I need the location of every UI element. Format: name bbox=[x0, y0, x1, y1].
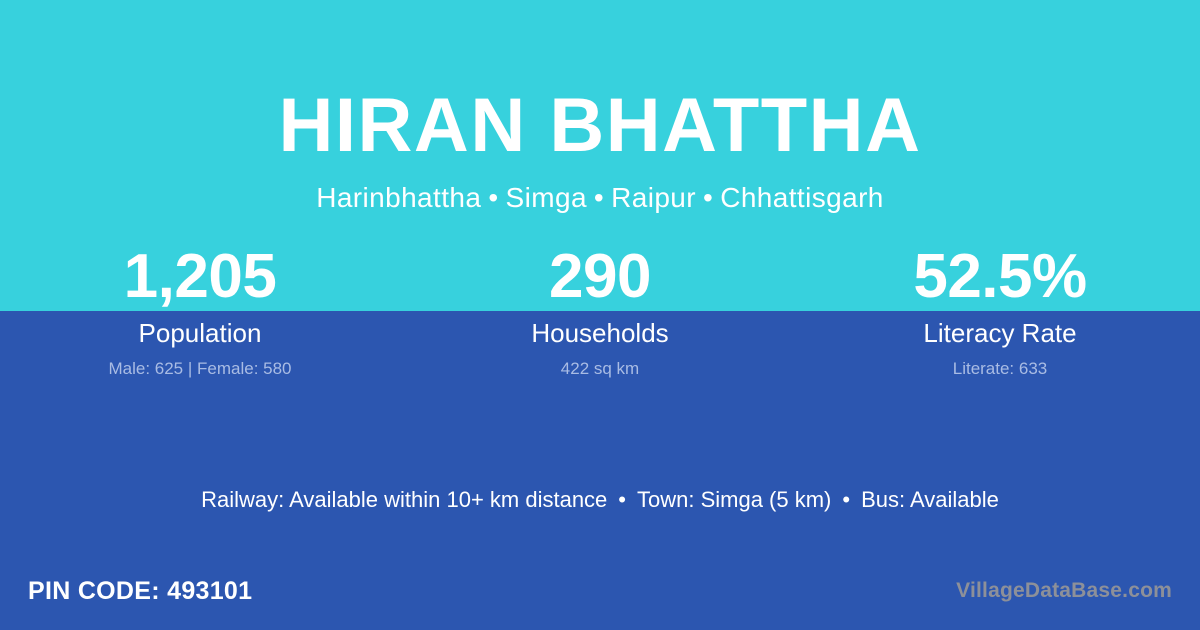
breadcrumb-part-block: Simga bbox=[506, 182, 587, 213]
stat-literacy-rate-value: 52.5% bbox=[800, 243, 1200, 311]
breadcrumb-part-state: Chhattisgarh bbox=[720, 182, 884, 213]
stat-literacy-rate-sub: Literate: 633 bbox=[800, 358, 1200, 380]
stat-population: 1,205 Population Male: 625 | Female: 580 bbox=[0, 243, 400, 380]
transport-bus: Bus: Available bbox=[861, 487, 999, 512]
stat-population-sub: Male: 625 | Female: 580 bbox=[0, 358, 400, 380]
breadcrumb-separator: • bbox=[481, 182, 505, 213]
breadcrumb-part-panchayat: Harinbhattha bbox=[316, 182, 481, 213]
breadcrumb-separator: • bbox=[587, 182, 611, 213]
stat-households-label: Households bbox=[400, 317, 800, 349]
breadcrumb-separator: • bbox=[696, 182, 720, 213]
stat-literacy-rate-label: Literacy Rate bbox=[800, 317, 1200, 349]
pin-code: PIN CODE: 493101 bbox=[28, 575, 252, 607]
transport-railway: Railway: Available within 10+ km distanc… bbox=[201, 487, 607, 512]
transport-separator: • bbox=[831, 487, 861, 512]
transport-separator: • bbox=[607, 487, 637, 512]
village-info-card: HIRAN BHATTHA Harinbhattha•Simga•Raipur•… bbox=[0, 0, 1200, 630]
card-header: HIRAN BHATTHA Harinbhattha•Simga•Raipur•… bbox=[0, 0, 1200, 215]
brand-watermark: VillageDataBase.com bbox=[956, 577, 1172, 605]
stat-population-value: 1,205 bbox=[0, 243, 400, 311]
stat-literacy-rate: 52.5% Literacy Rate Literate: 633 bbox=[800, 243, 1200, 380]
village-location-breadcrumb: Harinbhattha•Simga•Raipur•Chhattisgarh bbox=[0, 181, 1200, 215]
stat-households-sub: 422 sq km bbox=[400, 358, 800, 380]
card-footer: PIN CODE: 493101 VillageDataBase.com bbox=[0, 552, 1200, 630]
transport-info-line: Railway: Available within 10+ km distanc… bbox=[0, 485, 1200, 515]
stats-row: 1,205 Population Male: 625 | Female: 580… bbox=[0, 243, 1200, 380]
stat-households-value: 290 bbox=[400, 243, 800, 311]
stat-population-label: Population bbox=[0, 317, 400, 349]
transport-town: Town: Simga (5 km) bbox=[637, 487, 831, 512]
breadcrumb-part-district: Raipur bbox=[611, 182, 696, 213]
stat-households: 290 Households 422 sq km bbox=[400, 243, 800, 380]
village-title: HIRAN BHATTHA bbox=[0, 82, 1200, 170]
